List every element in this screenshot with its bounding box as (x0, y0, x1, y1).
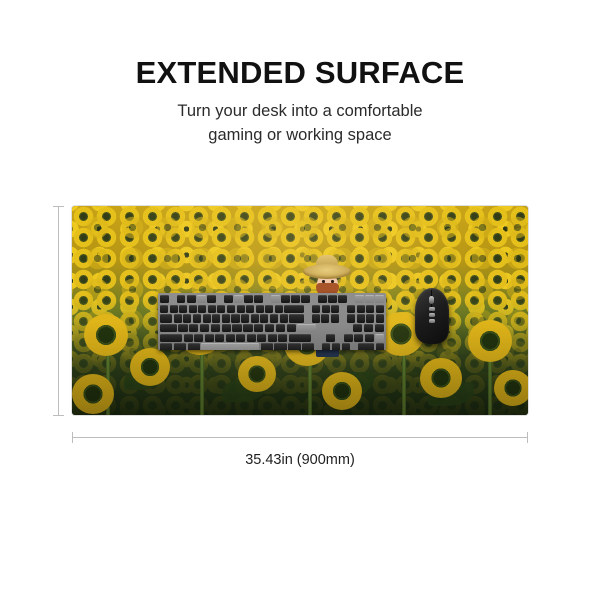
keycap (234, 295, 243, 303)
keycap-gap (170, 295, 175, 303)
keycap (364, 324, 373, 332)
keycap (178, 324, 187, 332)
keycap (366, 305, 374, 313)
keycap (318, 295, 327, 303)
keycap (244, 295, 253, 303)
keycap-capslock (160, 324, 177, 332)
height-dimension-line (58, 206, 59, 415)
keycap (236, 334, 245, 342)
mouse-extra-button (429, 319, 435, 323)
keycap (241, 314, 249, 322)
keycap (353, 324, 362, 332)
keycap (231, 314, 239, 322)
keycap (280, 314, 288, 322)
keycap-menu (288, 343, 300, 350)
keycap-gap (346, 324, 352, 332)
keycap (278, 334, 287, 342)
keycap (375, 324, 384, 332)
keycap (357, 314, 365, 322)
keycap-gap (337, 334, 342, 342)
keycap (200, 324, 209, 332)
keyboard-row-bottom (160, 343, 384, 350)
sunflower-bloom (84, 314, 128, 356)
keyboard-row-qwerty (160, 314, 384, 322)
keycap-backspace (284, 305, 304, 313)
mechanical-keyboard (158, 293, 386, 350)
keycap (198, 305, 206, 313)
keycap-gap (311, 295, 316, 303)
keycap (194, 334, 203, 342)
keycap-ctrl-right (302, 343, 314, 350)
keyboard-row-shift (160, 334, 384, 342)
keycap (189, 324, 198, 332)
keycap (177, 295, 186, 303)
keycap (187, 295, 196, 303)
keycap-gap (306, 305, 311, 313)
character-eye-right (331, 280, 334, 283)
keycap-numpad-zero (358, 343, 374, 350)
keycap-backslash (289, 314, 304, 322)
subtitle-line-2: gaming or working space (0, 124, 600, 148)
keycap-gap (351, 343, 356, 350)
keycap (174, 314, 182, 322)
page-title: EXTENDED SURFACE (0, 56, 600, 90)
keycap (301, 295, 310, 303)
keycap (271, 295, 280, 303)
keycap (331, 314, 339, 322)
keycap-gap (332, 324, 338, 332)
keycap-win-left (174, 343, 186, 350)
keycap-gap (264, 295, 269, 303)
keycap (281, 295, 290, 303)
keycap (268, 334, 277, 342)
keycap (375, 295, 384, 303)
page-subtitle: Turn your desk into a comfortable gaming… (0, 100, 600, 148)
keycap (160, 295, 169, 303)
keycap (197, 295, 206, 303)
keycap-fn (274, 343, 286, 350)
keycap (312, 305, 320, 313)
keycap (256, 305, 264, 313)
keycap-shift-right (289, 334, 311, 342)
keycap (276, 324, 285, 332)
keycap (237, 305, 245, 313)
keyboard-row-home (160, 324, 384, 332)
keycap-gap (305, 314, 310, 322)
keycap-gap (341, 314, 346, 322)
keycap (355, 295, 364, 303)
width-dimension-line (72, 437, 528, 438)
keycap (347, 314, 355, 322)
keycap-spacebar (201, 343, 259, 350)
keycap (211, 324, 220, 332)
sunflower-bloom (494, 370, 528, 406)
keycap (287, 324, 296, 332)
keycap (224, 295, 233, 303)
width-dimension-tick-right (527, 432, 528, 443)
keycap (207, 295, 216, 303)
gaming-mouse (415, 288, 449, 344)
height-dimension-tick-bottom (53, 415, 64, 416)
keycap (357, 305, 365, 313)
keycap (331, 305, 339, 313)
character-eye-left (322, 280, 325, 283)
keycap (205, 334, 214, 342)
keycap-arrow-right (342, 343, 350, 350)
sunflower-bloom (468, 320, 512, 362)
keycap-tab (160, 314, 172, 322)
keyboard-row-number (160, 305, 384, 313)
keycap (217, 305, 225, 313)
keycap (193, 314, 201, 322)
keycap-numlock (347, 305, 355, 313)
keycap (275, 305, 283, 313)
keycap (328, 295, 337, 303)
keycap-alt-right (261, 343, 273, 350)
keycap (291, 295, 300, 303)
mouse-extra-button (429, 313, 435, 317)
width-dimension-label: 35.43in (900mm) (72, 452, 528, 468)
straw-hat-brim (303, 264, 351, 279)
keycap (246, 305, 254, 313)
keycap-ctrl-left (160, 343, 172, 350)
keycap (254, 295, 263, 303)
keycap (170, 305, 178, 313)
keycap (222, 324, 231, 332)
keycap-enter (297, 324, 316, 332)
keycap (189, 305, 197, 313)
mouse-dpi-button (429, 307, 435, 311)
keycap (208, 305, 216, 313)
keycap (222, 314, 230, 322)
keycap (247, 334, 256, 342)
keycap (203, 314, 211, 322)
height-dimension-tick-top (53, 206, 64, 207)
keycap (232, 324, 241, 332)
keycap (354, 334, 363, 342)
keycap (257, 334, 266, 342)
keycap (322, 305, 330, 313)
keycap-gap (318, 324, 324, 332)
keycap (312, 314, 320, 322)
keycap-numpad-dot (376, 343, 384, 350)
keycap-gap (313, 334, 318, 342)
keycap (270, 314, 278, 322)
width-dimension-tick-left (72, 432, 73, 443)
keycap (260, 314, 268, 322)
keyboard-row-function (160, 295, 384, 303)
keycap-numpad-plus (376, 314, 384, 322)
keycap (215, 334, 224, 342)
keycap (243, 324, 252, 332)
keycap (365, 334, 374, 342)
keycap-gap (217, 295, 222, 303)
keycap-alt-left (188, 343, 200, 350)
keycap (338, 295, 347, 303)
keycap-numpad-enter (375, 334, 384, 342)
keycap (184, 334, 193, 342)
keycap (344, 334, 353, 342)
sunflower-bloom (420, 358, 462, 398)
keycap (376, 305, 384, 313)
keycap-shift-left (160, 334, 182, 342)
keycap (366, 314, 374, 322)
keycap (183, 314, 191, 322)
keycap-arrow-up (326, 334, 335, 342)
keycap (179, 305, 187, 313)
keycap-arrow-down (332, 343, 340, 350)
sunflower-bloom (238, 356, 276, 392)
mouse-scroll-wheel (429, 296, 434, 304)
keycap-gap (319, 334, 324, 342)
keycap (160, 305, 168, 313)
keycap-gap (325, 324, 331, 332)
sunflower-bloom (72, 374, 114, 414)
keycap-arrow-left (322, 343, 330, 350)
keycap (254, 324, 263, 332)
keycap (227, 305, 235, 313)
keycap-gap (348, 295, 353, 303)
keycap-gap (341, 305, 346, 313)
sunflower-bloom (322, 372, 362, 410)
keycap (251, 314, 259, 322)
keycap-gap (316, 343, 321, 350)
keycap (226, 334, 235, 342)
keycap (365, 295, 374, 303)
keycap-gap (339, 324, 345, 332)
keycap (265, 324, 274, 332)
subtitle-line-1: Turn your desk into a comfortable (0, 100, 600, 124)
keycap (265, 305, 273, 313)
keycap (212, 314, 220, 322)
sunflower-bloom (130, 348, 170, 386)
keycap (321, 314, 329, 322)
